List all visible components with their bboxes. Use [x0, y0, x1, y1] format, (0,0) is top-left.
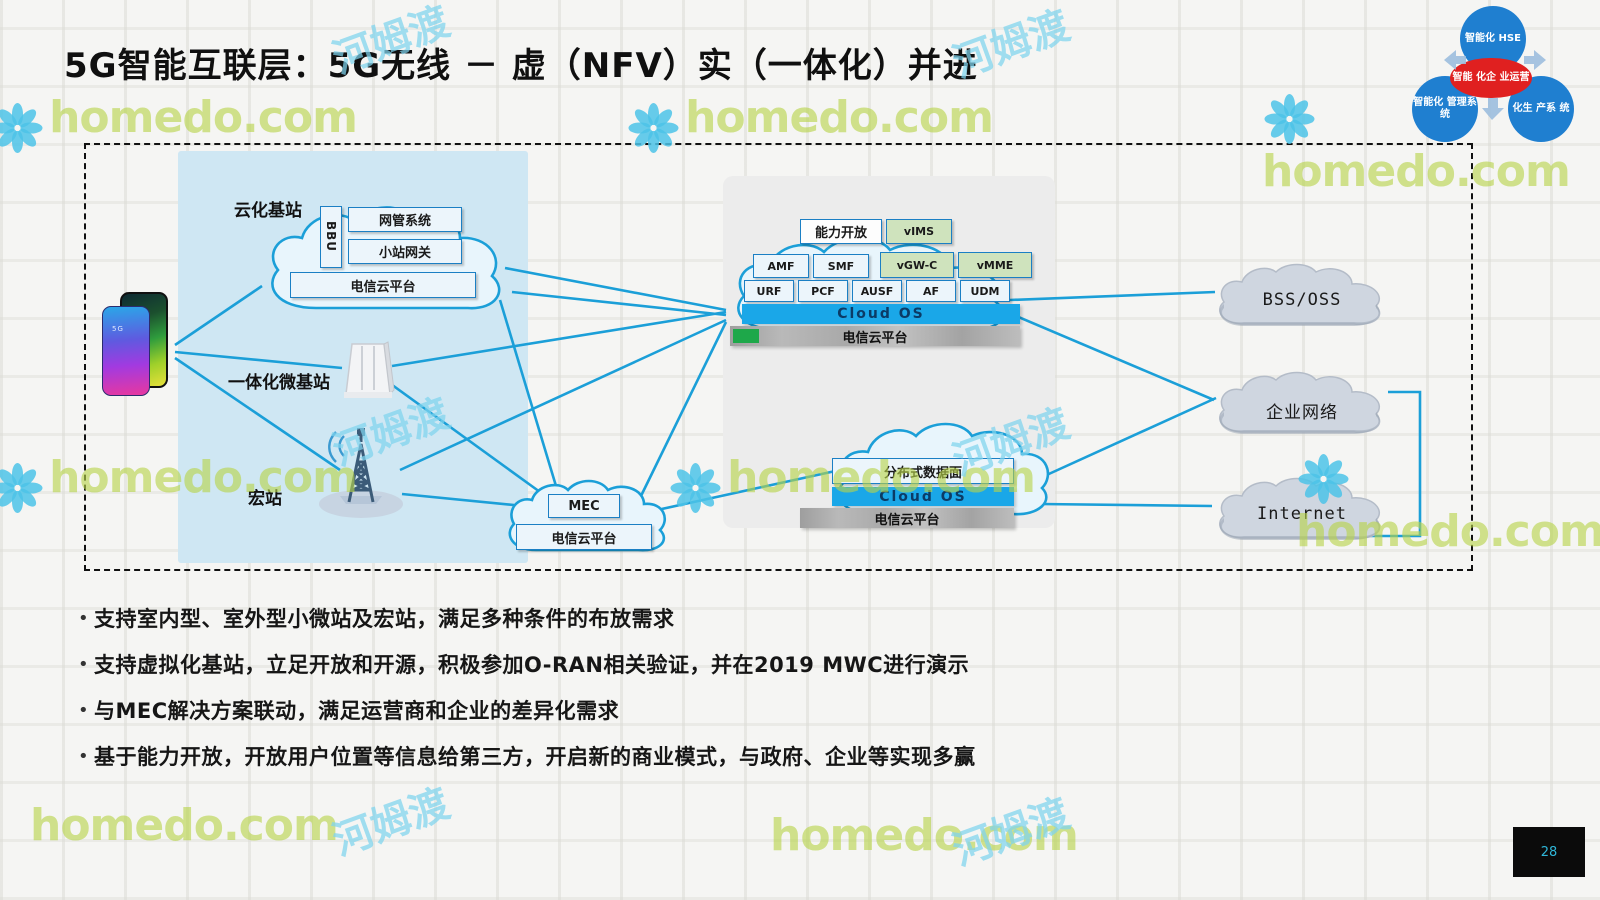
- bullet-text: 与MEC解决方案联动，满足运营商和企业的差异化需求: [94, 698, 619, 725]
- amf-box[interactable]: AMF: [753, 254, 809, 278]
- dataplane-cloud-os-bar: Cloud OS: [832, 487, 1014, 506]
- internet-label: Internet: [1210, 504, 1394, 524]
- oam-box[interactable]: 网管系统: [348, 207, 462, 232]
- bullet-item: • 与MEC解决方案联动，满足运营商和企业的差异化需求: [78, 698, 1358, 725]
- vims-box[interactable]: vIMS: [886, 219, 952, 244]
- mec-box[interactable]: MEC: [548, 494, 620, 518]
- pcf-box[interactable]: PCF: [798, 280, 848, 302]
- internet-cloud[interactable]: Internet: [1210, 476, 1394, 548]
- bullet-text: 支持室内型、室外型小微站及宏站，满足多种条件的布放需求: [94, 606, 675, 633]
- enterprise-network-label: 企业网络: [1210, 398, 1394, 423]
- bullet-list: • 支持室内型、室外型小微站及宏站，满足多种条件的布放需求 • 支持虚拟化基站，…: [78, 606, 1358, 790]
- ausf-box[interactable]: AUSF: [852, 280, 902, 302]
- small-cell-gateway-box[interactable]: 小站网关: [348, 239, 462, 264]
- af-box[interactable]: AF: [906, 280, 956, 302]
- bbu-box[interactable]: BBU: [320, 206, 342, 268]
- bullet-text: 基于能力开放，开放用户位置等信息给第三方，开启新的商业模式，与政府、企业等实现多…: [94, 744, 976, 771]
- bullet-item: • 支持虚拟化基站，立足开放和开源，积极参加O-RAN相关验证，并在2019 M…: [78, 652, 1358, 679]
- macro-base-station-icon: [316, 420, 406, 520]
- urf-box[interactable]: URF: [744, 280, 794, 302]
- udm-box[interactable]: UDM: [960, 280, 1010, 302]
- smf-box[interactable]: SMF: [813, 254, 869, 278]
- core-telco-cloud-bar: 电信云平台: [730, 326, 1020, 346]
- bullet-item: • 基于能力开放，开放用户位置等信息给第三方，开启新的商业模式，与政府、企业等实…: [78, 744, 1358, 771]
- micro-base-station-icon: [340, 340, 396, 402]
- label-cloud-ran: 云化基站: [234, 196, 302, 221]
- bullet-marker: •: [78, 744, 94, 770]
- status-led: [733, 329, 759, 343]
- capability-open-box[interactable]: 能力开放: [800, 219, 882, 244]
- dataplane-telco-cloud-label: 电信云平台: [874, 509, 939, 528]
- vgw-c-box[interactable]: vGW-C: [880, 252, 954, 278]
- ran-telco-cloud-box[interactable]: 电信云平台: [290, 272, 476, 298]
- vmme-box[interactable]: vMME: [958, 252, 1032, 278]
- enterprise-network-cloud[interactable]: 企业网络: [1210, 370, 1394, 442]
- page-number: 28: [1513, 827, 1585, 877]
- dataplane-telco-cloud-bar: 电信云平台: [800, 508, 1014, 528]
- label-micro-base-station: 一体化微基站: [228, 368, 330, 393]
- core-telco-cloud-label: 电信云平台: [842, 327, 907, 346]
- bullet-marker: •: [78, 652, 94, 678]
- mec-telco-cloud-box[interactable]: 电信云平台: [516, 524, 652, 550]
- bullet-marker: •: [78, 698, 94, 724]
- core-cloud-os-bar: Cloud OS: [742, 304, 1020, 324]
- bullet-item: • 支持室内型、室外型小微站及宏站，满足多种条件的布放需求: [78, 606, 1358, 633]
- slide-canvas: 5G智能互联层：5G无线 － 虚（NFV）实（一体化）并进: [0, 0, 1600, 900]
- phone-front-icon: 5G: [102, 306, 150, 396]
- corner-decoration-graphic: 智能化 HSE 智能化 管理系 统 化生 产系 统 智能 化企 业运营: [1404, 2, 1594, 152]
- bullet-marker: •: [78, 606, 94, 632]
- user-devices: 5G: [98, 292, 178, 394]
- label-macro-base-station: 宏站: [248, 484, 282, 509]
- page-title: 5G智能互联层：5G无线 － 虚（NFV）实（一体化）并进: [64, 38, 978, 87]
- distributed-dataplane-box[interactable]: 分布式数据面: [832, 458, 1014, 484]
- bullet-text: 支持虚拟化基站，立足开放和开源，积极参加O-RAN相关验证，并在2019 MWC…: [94, 652, 969, 679]
- bss-oss-label: BSS/OSS: [1210, 290, 1394, 310]
- bss-oss-cloud[interactable]: BSS/OSS: [1210, 262, 1394, 334]
